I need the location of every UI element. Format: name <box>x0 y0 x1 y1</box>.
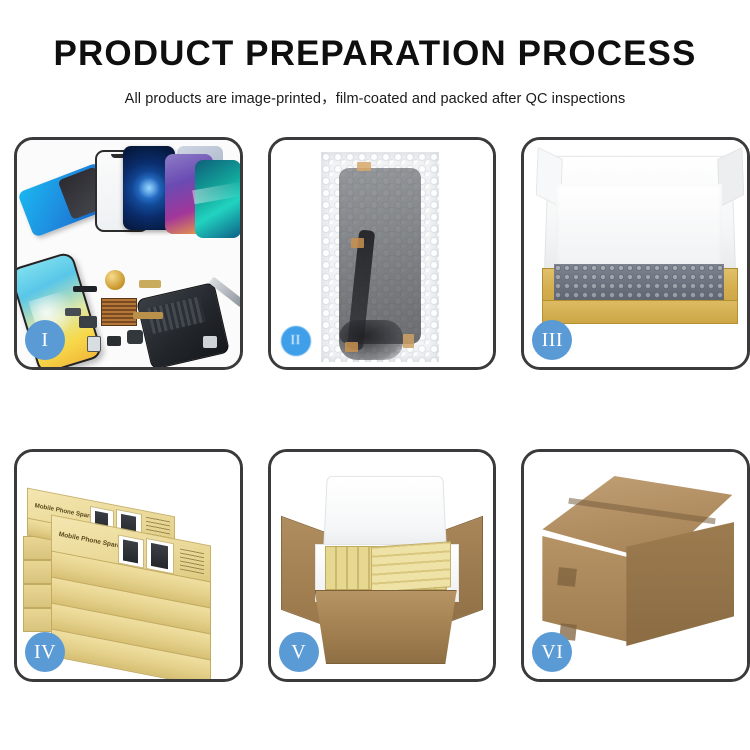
small-component-part <box>203 336 217 348</box>
step-badge-4: IV <box>25 632 65 672</box>
small-component-part <box>73 286 97 292</box>
carton-left-face <box>542 536 628 642</box>
tape-strip <box>403 334 414 348</box>
step-card-3[interactable]: III <box>521 137 750 370</box>
process-row-top: I II <box>0 137 750 370</box>
teal-gradient-display-part <box>195 160 240 238</box>
kraft-boxes-inside <box>371 541 451 593</box>
page-header: PRODUCT PREPARATION PROCESS All products… <box>0 0 750 108</box>
step-badge-2: II <box>281 326 311 356</box>
box-spec-lines <box>180 546 204 575</box>
step-card-5[interactable]: V <box>268 449 497 682</box>
step-card-1[interactable]: I <box>14 137 243 370</box>
carton-tape-patch <box>557 567 577 587</box>
chip-grid-part <box>101 298 137 326</box>
grey-bubble-wrap-contents <box>554 264 724 300</box>
process-steps-grid: I II <box>0 137 750 682</box>
gold-speaker-part <box>105 270 125 290</box>
cable-bundle <box>339 320 403 360</box>
white-foam-pad <box>556 184 722 272</box>
small-component-part <box>127 330 143 344</box>
step-badge-5: V <box>279 632 319 672</box>
step-card-2[interactable]: II <box>268 137 497 370</box>
step-card-4[interactable]: Mobile Phone Spare Parts Mobile Phone Sp… <box>14 449 243 682</box>
small-component-part <box>87 336 101 352</box>
carton-body <box>315 590 457 664</box>
step-card-6[interactable]: VI <box>521 449 750 682</box>
kraft-box-front-edge <box>542 300 738 324</box>
small-component-part <box>107 336 121 346</box>
tape-strip <box>345 342 358 352</box>
process-row-bottom: Mobile Phone Spare Parts Mobile Phone Sp… <box>0 449 750 682</box>
small-component-part <box>139 280 161 288</box>
step-badge-1: I <box>25 320 65 360</box>
tape-strip <box>351 238 364 248</box>
small-component-part <box>65 308 81 316</box>
bubble-wrap-bag <box>321 152 439 362</box>
page-title: PRODUCT PREPARATION PROCESS <box>0 36 750 71</box>
small-component-part <box>133 312 163 319</box>
styrofoam-lid <box>323 476 447 550</box>
phone-backplate-part <box>136 282 230 367</box>
small-component-part <box>79 316 97 328</box>
tape-strip <box>357 162 371 171</box>
page-subtitle: All products are image-printed，film-coat… <box>0 87 750 108</box>
